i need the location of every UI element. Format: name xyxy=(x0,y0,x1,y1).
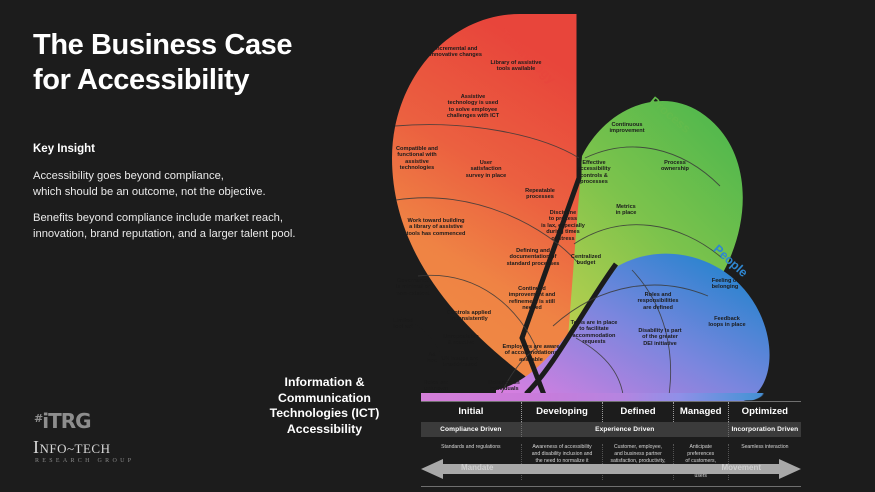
infotech-logo-ech: ECH xyxy=(83,441,111,456)
stage-header-optimized[interactable]: Optimized xyxy=(729,402,801,422)
key-insight-paragraph-1: Accessibility goes beyond compliance, wh… xyxy=(33,168,266,200)
page-title: The Business Case for Accessibility xyxy=(33,28,292,99)
table-bottom-rule xyxy=(421,486,801,487)
stage-header-developing[interactable]: Developing xyxy=(522,402,604,422)
infotech-logo-subtitle: RESEARCH GROUP xyxy=(35,458,134,464)
slide-canvas: The Business Case for Accessibility Key … xyxy=(0,0,875,492)
itrg-logo: #iTRG xyxy=(34,409,91,433)
stage-header-defined[interactable]: Defined xyxy=(603,402,673,422)
infotech-logo: INFO~TECH xyxy=(33,437,110,458)
band-experience-driven: Experience Driven xyxy=(522,422,729,437)
heart-maturity-diagram: Technology Process People Incremental an… xyxy=(370,8,800,408)
itrg-logo-text: iTRG xyxy=(42,409,90,433)
maturity-driver-band-row: Compliance Driven Experience Driven Inco… xyxy=(421,422,801,437)
key-insight-paragraph-2: Benefits beyond compliance include marke… xyxy=(33,210,295,242)
ict-accessibility-label: Information & Communication Technologies… xyxy=(237,375,412,438)
infotech-logo-nfot: NFO~T xyxy=(40,441,83,456)
heart-diagram-svg xyxy=(370,8,800,408)
key-insight-heading: Key Insight xyxy=(33,143,95,155)
band-incorporation-driven: Incorporation Driven xyxy=(729,422,801,437)
mandate-movement-axis: Mandate Movement xyxy=(421,458,801,480)
stage-header-managed[interactable]: Managed xyxy=(674,402,729,422)
stage-header-initial[interactable]: Initial xyxy=(421,402,522,422)
axis-label-mandate: Mandate xyxy=(461,463,493,472)
itrg-logo-hash: # xyxy=(34,412,42,425)
maturity-stage-header-row: Initial Developing Defined Managed Optim… xyxy=(421,402,801,422)
axis-label-movement: Movement xyxy=(721,463,761,472)
band-compliance-driven: Compliance Driven xyxy=(421,422,522,437)
maturity-gradient-bar xyxy=(421,393,801,401)
gradient-curve-mask xyxy=(709,393,801,401)
